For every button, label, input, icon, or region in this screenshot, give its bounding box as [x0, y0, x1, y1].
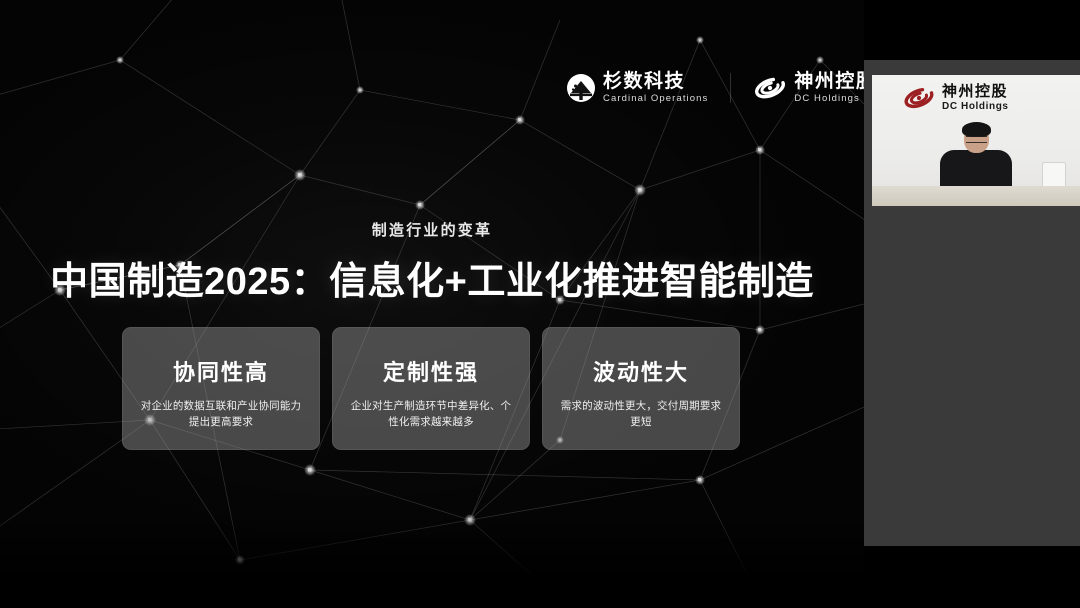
presenter-glasses	[966, 136, 987, 143]
webcam-video-feed[interactable]: 神州控股 DC Holdings	[872, 75, 1080, 206]
feature-card-title: 波动性大	[593, 355, 689, 387]
feature-card-body: 对企业的数据互联和产业协同能力提出更高要求	[137, 398, 305, 431]
slide-headline: 中国制造2025：信息化+工业化推进智能制造	[0, 250, 864, 305]
logo-dc-holdings: 神州控股 DC Holdings	[753, 72, 864, 104]
feature-card: 定制性强 企业对生产制造环节中差异化、个性化需求越来越多	[332, 327, 530, 450]
logo-cardinal-en: Cardinal Operations	[603, 94, 708, 104]
webcam-logo-en: DC Holdings	[942, 102, 1009, 112]
logo-cardinal-operations: 杉数科技 Cardinal Operations	[566, 72, 708, 104]
feature-card-title: 协同性高	[173, 355, 269, 387]
cardinal-operations-circle-icon	[566, 73, 596, 103]
presentation-slide: 杉数科技 Cardinal Operations 神州控股 DC Holding…	[0, 0, 864, 608]
feature-card-body: 需求的波动性更大，交付周期要求更短	[557, 398, 725, 431]
logo-bar: 杉数科技 Cardinal Operations 神州控股 DC Holding…	[566, 72, 864, 104]
webcam-logo-cn: 神州控股	[942, 84, 1009, 99]
feature-card: 波动性大 需求的波动性更大，交付周期要求更短	[542, 327, 740, 450]
presenter	[940, 125, 1012, 190]
slide-eyebrow: 制造行业的变革	[0, 219, 864, 240]
logo-dc-cn: 神州控股	[794, 72, 864, 91]
desk	[872, 186, 1080, 206]
dc-holdings-swirl-icon	[902, 83, 936, 113]
feature-card-body: 企业对生产制造环节中差异化、个性化需求越来越多	[347, 398, 515, 431]
logo-dc-en: DC Holdings	[794, 94, 864, 104]
presenter-torso	[940, 150, 1012, 190]
feature-card-title: 定制性强	[383, 355, 479, 387]
presenter-hair	[962, 122, 991, 137]
dc-holdings-swirl-icon	[753, 73, 787, 103]
screen-root: 杉数科技 Cardinal Operations 神州控股 DC Holding…	[0, 0, 1080, 608]
feature-card: 协同性高 对企业的数据互联和产业协同能力提出更高要求	[122, 327, 320, 450]
webcam-wall-logo: 神州控股 DC Holdings	[902, 83, 1009, 113]
presenter-head	[964, 125, 989, 153]
feature-card-list: 协同性高 对企业的数据互联和产业协同能力提出更高要求 定制性强 企业对生产制造环…	[122, 327, 740, 450]
logo-cardinal-cn: 杉数科技	[603, 72, 708, 91]
logo-divider	[730, 73, 731, 103]
webcam-panel: 神州控股 DC Holdings	[864, 0, 1080, 608]
